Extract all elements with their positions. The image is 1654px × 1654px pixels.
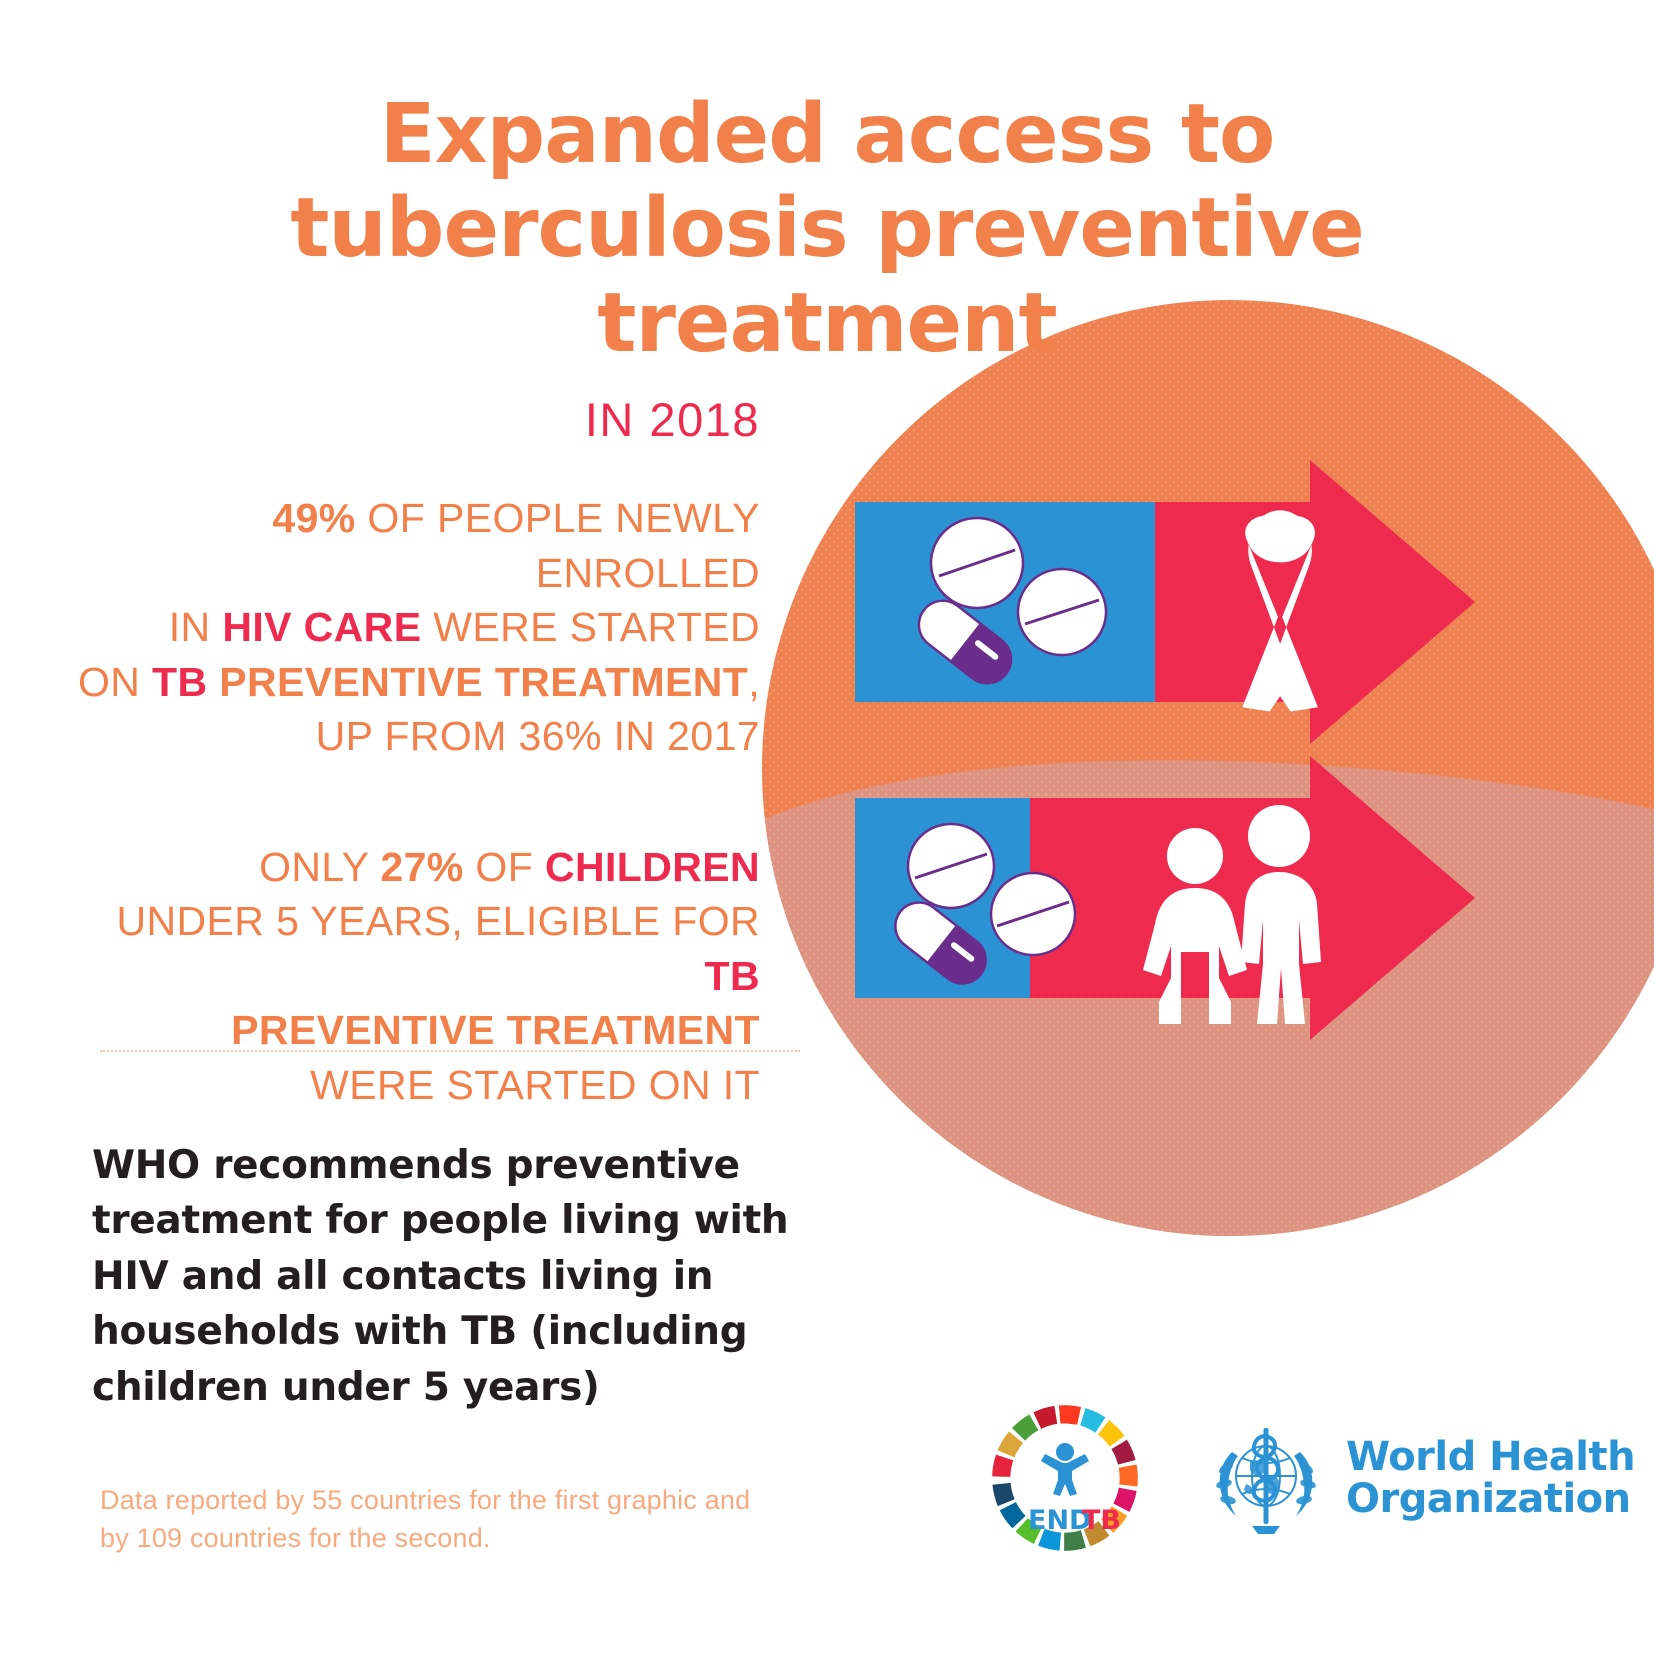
arrow-graphic-children [855, 756, 1475, 1041]
stat1-line3: ON TB PREVENTIVE TREATMENT, [60, 655, 760, 710]
end-tb-tb-label: TB [1082, 1505, 1121, 1536]
arrow-graphic-hiv [855, 460, 1475, 745]
year-label: IN 2018 [60, 396, 760, 443]
section-divider [100, 1050, 800, 1052]
end-tb-logo: END TB [980, 1393, 1150, 1563]
stat2-line1: ONLY 27% OF CHILDREN [60, 840, 760, 895]
who-logo: World Health Organization [1202, 1414, 1635, 1542]
stat2-line2: UNDER 5 YEARS, ELIGIBLE FOR TB [60, 894, 760, 1003]
stats-column: IN 2018 49% OF PEOPLE NEWLY ENROLLED IN … [60, 396, 760, 1112]
stat1-line3-pre: ON [78, 659, 152, 705]
stat2-line2-pre: UNDER 5 YEARS, ELIGIBLE FOR [117, 898, 760, 944]
stat1-line4: UP FROM 36% IN 2017 [60, 709, 760, 764]
who-recommendation-text: WHO recommends preventive treatment for … [92, 1138, 812, 1415]
stat1-line2-post: WERE STARTED [421, 604, 760, 650]
stat1-line2: IN HIV CARE WERE STARTED [60, 600, 760, 655]
stat-block-children: ONLY 27% OF CHILDREN UNDER 5 YEARS, ELIG… [60, 840, 760, 1113]
who-label-line2: Organization [1346, 1478, 1635, 1520]
stat2-line4: WERE STARTED ON IT [60, 1058, 760, 1113]
page-title: Expanded access to tuberculosis preventi… [0, 88, 1654, 371]
stat1-line1: 49% OF PEOPLE NEWLY ENROLLED [60, 491, 760, 600]
logo-row: END TB [980, 1378, 1540, 1578]
stat1-line2-pre: IN [169, 604, 223, 650]
stat2-tb: TB [705, 953, 760, 999]
stat1-line1-rest: OF PEOPLE NEWLY ENROLLED [356, 495, 760, 596]
stat1-tb: TB [152, 659, 207, 705]
stat2-line1-pre: ONLY [259, 844, 380, 890]
stat2-children: CHILDREN [545, 844, 760, 890]
stat-block-hiv: 49% OF PEOPLE NEWLY ENROLLED IN HIV CARE… [60, 491, 760, 764]
stat1-preventive-treatment: PREVENTIVE TREATMENT [208, 659, 749, 705]
who-label-line1: World Health [1346, 1436, 1635, 1478]
data-source-footnote: Data reported by 55 countries for the fi… [100, 1482, 760, 1558]
stat2-percent: 27% [380, 844, 463, 890]
stat1-hiv-care: HIV CARE [222, 604, 421, 650]
stat1-percent: 49% [272, 495, 355, 541]
stat1-line3-post: , [748, 659, 760, 705]
stat2-line1-mid: OF [464, 844, 545, 890]
who-emblem-icon [1202, 1414, 1330, 1542]
